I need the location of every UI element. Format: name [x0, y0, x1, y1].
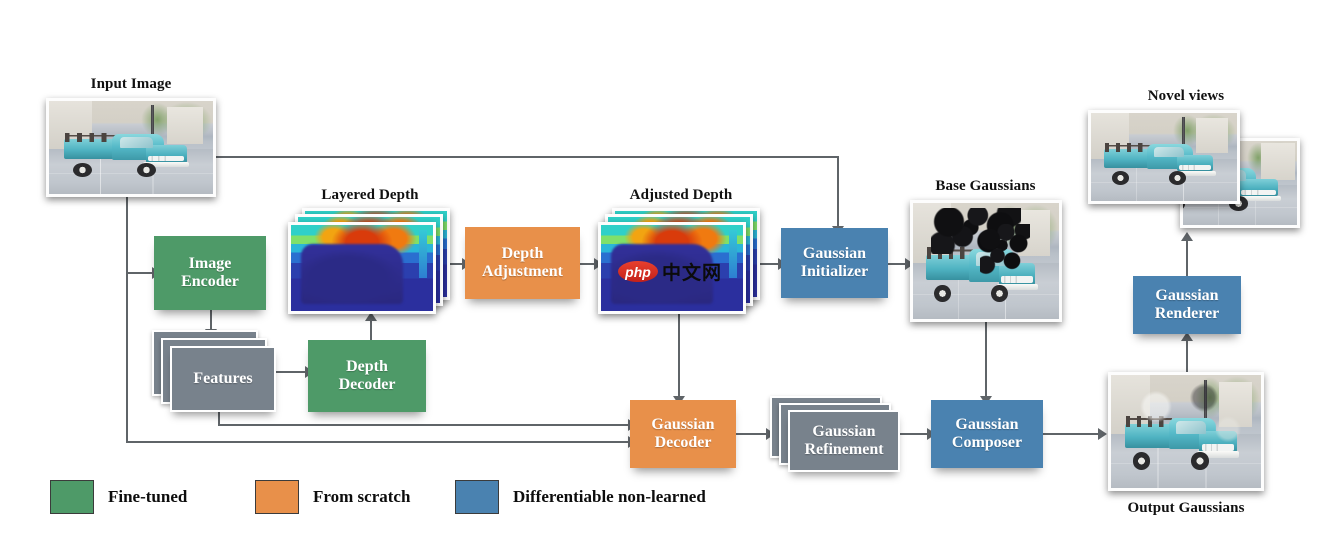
connector-renderer-to-novel — [1186, 238, 1188, 276]
block-gaussian-initializer[interactable]: Gaussian Initializer — [781, 228, 888, 298]
legend-swatch-from-scratch — [255, 480, 299, 514]
gaussian-refinement-label-1: Gaussian — [812, 423, 875, 441]
novel-views-group — [1050, 110, 1300, 232]
refinement-sheet-front: Gaussian Refinement — [788, 410, 900, 472]
legend-label-fine-tuned: Fine-tuned — [108, 487, 187, 507]
legend-item-differentiable: Differentiable non-learned — [455, 480, 706, 514]
block-gaussian-composer[interactable]: Gaussian Composer — [931, 400, 1043, 468]
legend-swatch-fine-tuned — [50, 480, 94, 514]
block-gaussian-decoder[interactable]: Gaussian Decoder — [630, 400, 736, 468]
gaussian-renderer-label-2: Renderer — [1155, 305, 1220, 323]
legend-item-from-scratch: From scratch — [255, 480, 410, 514]
output-gaussians-thumbnail — [1108, 372, 1264, 491]
connector-composer-to-output — [1043, 433, 1101, 435]
arrowhead-novel-views-bottom — [1181, 232, 1193, 241]
block-depth-adjustment[interactable]: Depth Adjustment — [465, 227, 580, 299]
gaussian-composer-label-2: Composer — [952, 434, 1022, 452]
base-gaussians-thumbnail — [910, 200, 1062, 322]
arrowhead-output-gaussians-left — [1098, 428, 1107, 440]
depth-decoder-label-1: Depth — [346, 358, 388, 376]
caption-novel-views: Novel views — [1100, 88, 1272, 105]
layered-depth-sheet-front — [288, 222, 436, 314]
gaussian-renderer-label-1: Gaussian — [1155, 287, 1218, 305]
novel-view-thumbnail-1 — [1088, 110, 1240, 204]
connector-output-to-renderer — [1186, 338, 1188, 374]
connector-input-trunk-down — [126, 272, 128, 442]
caption-adjusted-depth: Adjusted Depth — [596, 187, 766, 204]
block-gaussian-renderer[interactable]: Gaussian Renderer — [1133, 276, 1241, 334]
adjusted-depth-sheet-front — [598, 222, 746, 314]
caption-base-gaussians: Base Gaussians — [908, 178, 1063, 195]
caption-output-gaussians: Output Gaussians — [1108, 500, 1264, 517]
legend-label-from-scratch: From scratch — [313, 487, 410, 507]
features-label: Features — [193, 370, 252, 388]
connector-adjusted-down-to-decoder — [678, 312, 680, 400]
legend-item-fine-tuned: Fine-tuned — [50, 480, 187, 514]
gaussian-initializer-label-1: Gaussian — [803, 245, 866, 263]
connector-decoder-to-refinement — [736, 433, 770, 435]
connector-input-to-initializer-h — [215, 156, 839, 158]
image-encoder-label-2: Encoder — [181, 273, 239, 291]
connector-features-to-decoder-h — [218, 424, 630, 426]
connector-depth-decoder-to-layered — [370, 318, 372, 340]
connector-input-to-initializer-v — [837, 156, 839, 228]
connector-base-down-to-composer — [985, 322, 987, 400]
depth-adjustment-label-2: Adjustment — [482, 263, 563, 281]
block-depth-decoder[interactable]: Depth Decoder — [308, 340, 426, 412]
caption-input-image: Input Image — [46, 76, 216, 93]
image-encoder-label-1: Image — [189, 255, 232, 273]
connector-features-to-depth-decoder — [271, 371, 307, 373]
gaussian-initializer-label-2: Initializer — [801, 263, 869, 281]
block-image-encoder[interactable]: Image Encoder — [154, 236, 266, 310]
depth-adjustment-label-1: Depth — [502, 245, 544, 263]
connector-input-to-decoder-h — [126, 441, 630, 443]
depth-decoder-label-2: Decoder — [339, 376, 396, 394]
block-gaussian-refinement-stack[interactable]: Gaussian Refinement — [770, 396, 900, 472]
adjusted-depth-stack: php 中文网 — [598, 208, 760, 316]
gaussian-decoder-label-1: Gaussian — [651, 416, 714, 434]
connector-input-to-encoder — [126, 272, 154, 274]
gaussian-composer-label-1: Gaussian — [955, 416, 1018, 434]
diagram-canvas: Input Image Image Encoder Features Depth — [0, 0, 1340, 540]
legend-swatch-differentiable — [455, 480, 499, 514]
gaussian-refinement-label-2: Refinement — [804, 441, 883, 459]
legend-label-differentiable: Differentiable non-learned — [513, 487, 706, 507]
input-image-thumbnail — [46, 98, 216, 197]
gaussian-decoder-label-2: Decoder — [655, 434, 712, 452]
features-sheet-front: Features — [170, 346, 276, 412]
block-features-stack[interactable]: Features — [152, 330, 276, 412]
caption-layered-depth: Layered Depth — [286, 187, 454, 204]
connector-input-down — [126, 196, 128, 274]
layered-depth-stack — [288, 208, 450, 316]
